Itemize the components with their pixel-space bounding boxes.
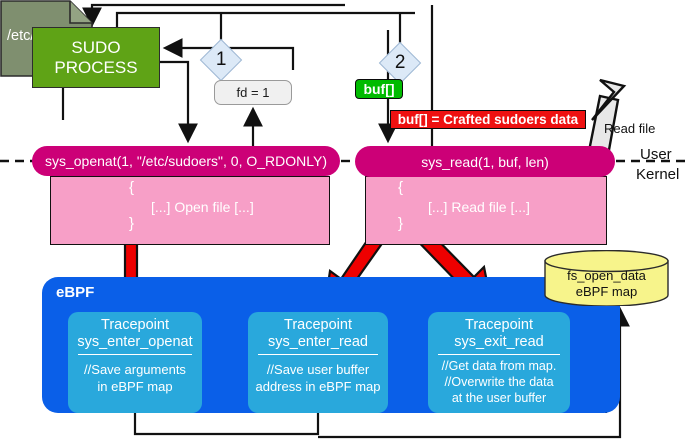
ebpf-title: eBPF bbox=[56, 284, 94, 301]
tp1-comment-0: //Save arguments bbox=[68, 361, 202, 378]
tracepoint-sys-enter-openat[interactable]: Tracepoint sys_enter_openat //Save argum… bbox=[68, 312, 202, 413]
tp3-hook: sys_exit_read bbox=[428, 334, 570, 351]
step-marker-2-label: 2 bbox=[395, 48, 406, 78]
buf-tag: buf[] bbox=[355, 79, 403, 99]
tp3-comment-2: at the user buffer bbox=[428, 390, 570, 406]
tp3-kind: Tracepoint bbox=[428, 317, 570, 334]
read-file-label: Read file bbox=[604, 121, 655, 136]
openat-body-text: [...] Open file [...] bbox=[151, 199, 254, 215]
diagram-canvas: SUDO PROCESS 1 2 fd = 1 buf[] buf[] = Cr… bbox=[0, 0, 686, 447]
sys-openat-pill[interactable]: sys_openat(1, "/etc/sudoers", 0, O_RDONL… bbox=[32, 146, 340, 176]
openat-close-brace: } bbox=[129, 215, 134, 232]
sys-read-body: { } [...] Read file [...] bbox=[365, 176, 607, 245]
tp2-comment-0: //Save user buffer bbox=[248, 361, 388, 378]
read-open-brace: { bbox=[398, 179, 403, 196]
sys-openat-body: { } [...] Open file [...] bbox=[50, 176, 330, 245]
sudo-process-box[interactable]: SUDO PROCESS bbox=[32, 27, 160, 88]
tp1-comment-1: in eBPF map bbox=[68, 378, 202, 395]
tracepoint-sys-enter-read[interactable]: Tracepoint sys_enter_read //Save user bu… bbox=[248, 312, 388, 413]
ebpf-map-name: fs_open_data bbox=[543, 268, 670, 283]
tp3-comment-0: //Get data from map. bbox=[428, 358, 570, 374]
tp2-kind: Tracepoint bbox=[248, 317, 388, 334]
tp1-hook: sys_enter_openat bbox=[68, 334, 202, 351]
read-body-text: [...] Read file [...] bbox=[428, 199, 530, 215]
tp1-kind: Tracepoint bbox=[68, 317, 202, 334]
read-close-brace: } bbox=[398, 215, 403, 232]
tracepoint-sys-exit-read[interactable]: Tracepoint sys_exit_read //Get data from… bbox=[428, 312, 570, 413]
crafted-data-banner: buf[] = Crafted sudoers data bbox=[390, 110, 586, 129]
sys-read-pill[interactable]: sys_read(1, buf, len) bbox=[355, 146, 615, 177]
sudo-process-line2: PROCESS bbox=[54, 58, 137, 78]
fd-return-value: fd = 1 bbox=[214, 80, 292, 105]
tp2-comment-1: address in eBPF map bbox=[248, 378, 388, 395]
step-marker-1-label: 1 bbox=[216, 45, 227, 75]
user-space-label: User bbox=[640, 146, 672, 163]
kernel-space-label: Kernel bbox=[636, 166, 679, 183]
sudo-process-line1: SUDO bbox=[54, 38, 137, 58]
openat-open-brace: { bbox=[129, 179, 134, 196]
tp3-comment-1: //Overwrite the data bbox=[428, 374, 570, 390]
ebpf-map-subtitle: eBPF map bbox=[543, 284, 670, 299]
ebpf-map-cylinder[interactable]: fs_open_data eBPF map bbox=[543, 250, 670, 306]
tp2-hook: sys_enter_read bbox=[248, 334, 388, 351]
